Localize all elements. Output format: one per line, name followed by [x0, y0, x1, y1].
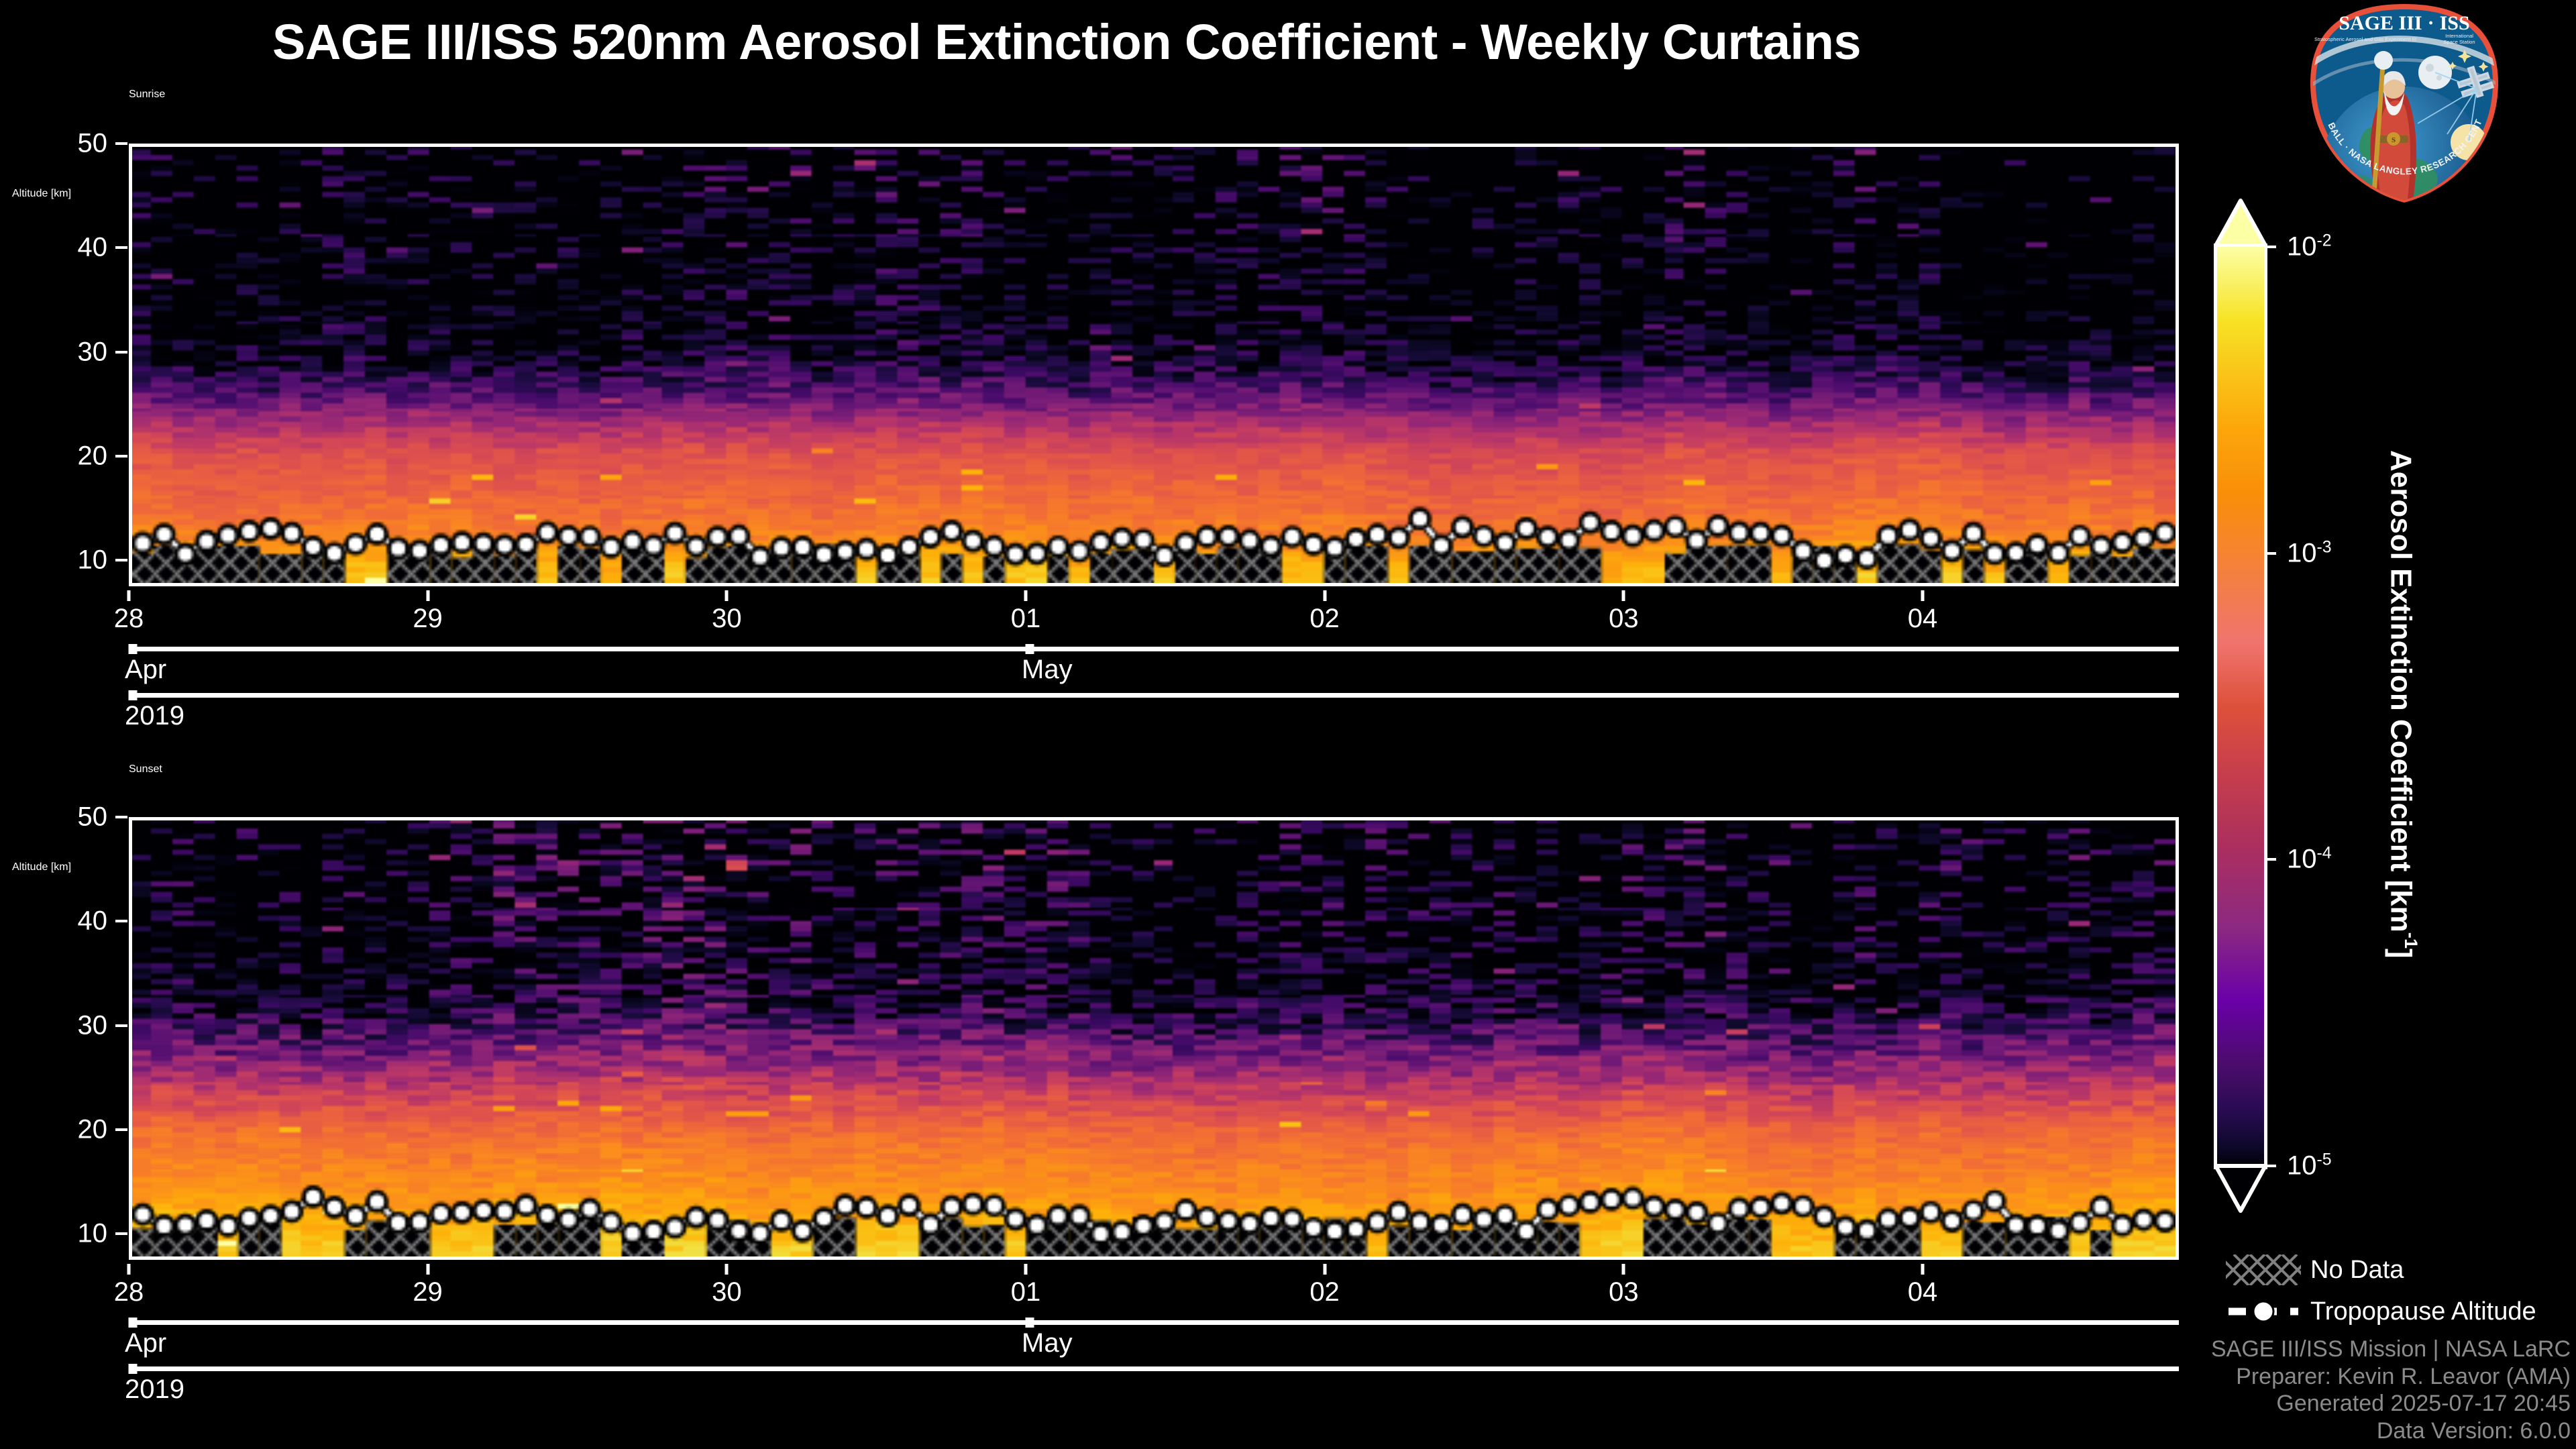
y-tick-mark: [115, 1232, 127, 1235]
footer-line-data-version: Data Version: 6.0.0: [2211, 1417, 2571, 1445]
y-tick-mark: [115, 142, 127, 145]
x-tick-label-day: 30: [712, 604, 742, 634]
y-tick-label: 30: [78, 337, 108, 367]
x-tick-mark-day: [1024, 1264, 1028, 1275]
x-tick-mark-day: [725, 1264, 729, 1275]
x-axis-month-label: Apr: [125, 655, 166, 685]
colorbar-tick-mark: [2264, 552, 2276, 555]
y-axis-ticks-sunrise: 1020304050: [0, 144, 127, 586]
x-axis-month-label: May: [1022, 655, 1073, 685]
y-tick-label: 10: [78, 545, 108, 576]
y-tick-mark: [115, 455, 127, 458]
x-axis-sunrise: 28293001020304AprMay2019: [129, 590, 2179, 711]
x-tick-label-day: 29: [413, 1277, 443, 1307]
x-axis-year-nub: [129, 690, 138, 700]
x-tick-label-day: 28: [114, 1277, 144, 1307]
logo-subtitle-left: Stratospheric Aerosol and Gas Experiment…: [2314, 36, 2416, 42]
logo-subtitle-right-2: Space Station: [2443, 39, 2475, 45]
x-tick-mark-day: [1323, 590, 1326, 601]
x-axis-year-nub: [129, 1364, 138, 1374]
y-tick-mark: [115, 559, 127, 561]
colorbar-tick-label: 10-4: [2287, 845, 2332, 875]
x-tick-label-day: 28: [114, 604, 144, 634]
colorbar-extend-top-icon: [2214, 199, 2267, 248]
panel-title-sunrise: Sunrise: [129, 89, 2179, 101]
y-tick-mark: [115, 1024, 127, 1027]
y-tick-label: 40: [78, 233, 108, 263]
legend-label-tropopause: Tropopause Altitude: [2301, 1297, 2536, 1326]
x-tick-mark-day: [1622, 1264, 1625, 1275]
footer-credits: SAGE III/ISS Mission | NASA LaRC Prepare…: [2211, 1336, 2571, 1445]
y-axis-ticks-sunset: 1020304050: [0, 817, 127, 1260]
heatmap-sunset[interactable]: [129, 817, 2179, 1260]
heatmap-sunrise[interactable]: [129, 144, 2179, 586]
colorbar-label: Aerosol Extinction Coefficient [km-1]: [2375, 282, 2422, 1127]
x-tick-label-day: 02: [1309, 1277, 1340, 1307]
x-tick-label-day: 03: [1609, 1277, 1639, 1307]
x-tick-mark-day: [1024, 590, 1028, 601]
colorbar-tick-label: 10-2: [2287, 231, 2332, 262]
x-tick-mark-day: [725, 590, 729, 601]
logo-title: SAGE III·ISS: [2339, 12, 2469, 34]
legend: No Data Tropopause Altitude: [2226, 1249, 2575, 1332]
legend-item-no-data[interactable]: No Data: [2226, 1249, 2575, 1291]
legend-label-no-data: No Data: [2301, 1256, 2404, 1285]
colorbar-tick-label: 10-3: [2287, 538, 2332, 568]
x-tick-mark-day: [426, 590, 429, 601]
x-tick-label-day: 01: [1011, 604, 1041, 634]
x-tick-mark-day: [1323, 1264, 1326, 1275]
colorbar[interactable]: 10-210-310-410-5: [2217, 200, 2264, 1213]
x-axis-sunset: 28293001020304AprMay2019: [129, 1264, 2179, 1385]
x-tick-label-day: 30: [712, 1277, 742, 1307]
svg-text:S: S: [2392, 136, 2396, 144]
x-tick-label-day: 04: [1908, 604, 1938, 634]
legend-item-tropopause[interactable]: Tropopause Altitude: [2226, 1291, 2575, 1332]
x-axis-year-rule: [129, 1366, 2179, 1371]
x-tick-label-day: 01: [1011, 1277, 1041, 1307]
footer-line-mission: SAGE III/ISS Mission | NASA LaRC: [2211, 1336, 2571, 1363]
y-tick-mark: [115, 816, 127, 818]
x-axis-month-rule: [129, 1320, 2179, 1325]
x-tick-mark-day: [1921, 1264, 1925, 1275]
x-axis-month-label: May: [1022, 1328, 1073, 1358]
sage-iii-iss-logo[interactable]: S BALL · NASA LANGLEY RESEARCH CENTER · …: [2304, 3, 2505, 204]
x-tick-mark-day: [1622, 590, 1625, 601]
x-axis-year-label: 2019: [125, 1375, 184, 1405]
colorbar-tick-mark: [2264, 246, 2276, 248]
x-tick-label-day: 03: [1609, 604, 1639, 634]
x-axis-year-rule: [129, 693, 2179, 698]
x-tick-mark-day: [1921, 590, 1925, 601]
y-tick-label: 10: [78, 1219, 108, 1249]
colorbar-extend-bottom-icon: [2214, 1163, 2267, 1213]
x-tick-label-day: 29: [413, 604, 443, 634]
colorbar-gradient: [2217, 247, 2264, 1166]
x-tick-mark-day: [426, 1264, 429, 1275]
colorbar-tick-mark: [2264, 1165, 2276, 1167]
x-tick-mark-day: [127, 1264, 131, 1275]
logo-subtitle-right-1: International: [2445, 33, 2473, 39]
y-tick-label: 20: [78, 441, 108, 471]
colorbar-tick-mark: [2264, 858, 2276, 861]
no-data-hatch-icon: [2226, 1254, 2301, 1285]
panel-title-sunset: Sunset: [129, 763, 2179, 775]
y-tick-mark: [115, 246, 127, 249]
x-axis-month-label: Apr: [125, 1328, 166, 1358]
y-tick-mark: [115, 1128, 127, 1131]
footer-line-preparer: Preparer: Kevin R. Leavor (AMA): [2211, 1363, 2571, 1391]
x-tick-label-day: 04: [1908, 1277, 1938, 1307]
x-axis-month-nub: [1026, 1318, 1034, 1328]
x-tick-label-day: 02: [1309, 604, 1340, 634]
x-axis-month-rule: [129, 647, 2179, 651]
footer-line-generated: Generated 2025-07-17 20:45: [2211, 1390, 2571, 1417]
x-tick-mark-day: [127, 590, 131, 601]
x-axis-month-nub: [129, 644, 138, 654]
page-title: SAGE III/ISS 520nm Aerosol Extinction Co…: [0, 13, 2133, 70]
y-tick-label: 20: [78, 1114, 108, 1144]
tropopause-marker-icon: [2226, 1296, 2301, 1327]
y-tick-label: 40: [78, 906, 108, 936]
x-axis-year-label: 2019: [125, 701, 184, 731]
x-axis-month-nub: [1026, 644, 1034, 654]
x-axis-month-nub: [129, 1318, 138, 1328]
y-tick-label: 50: [78, 802, 108, 833]
y-tick-label: 50: [78, 129, 108, 159]
y-tick-label: 30: [78, 1010, 108, 1040]
heatmap-canvas-sunrise: [132, 147, 2176, 583]
y-tick-mark: [115, 351, 127, 354]
y-tick-mark: [115, 920, 127, 922]
heatmap-canvas-sunset: [132, 820, 2176, 1256]
colorbar-tick-label: 10-5: [2287, 1150, 2332, 1181]
